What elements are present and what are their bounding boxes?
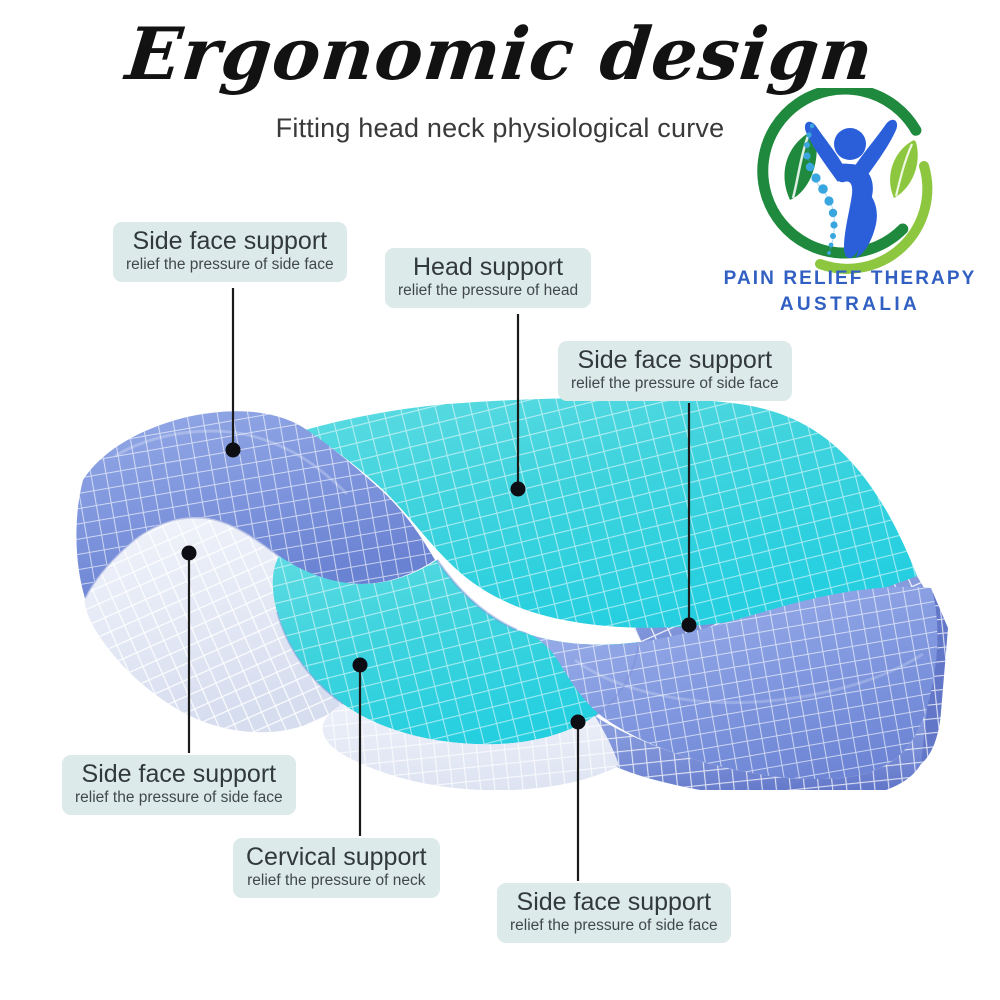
- callout-side-face-support-top-left[interactable]: Side face support relief the pressure of…: [113, 222, 347, 282]
- callout-cervical-support[interactable]: Cervical support relief the pressure of …: [233, 838, 440, 898]
- brand-logo: PAIN RELIEF THERAPY AUSTRALIA: [718, 88, 982, 328]
- callout-subtitle: relief the pressure of side face: [510, 917, 718, 936]
- callout-side-face-support-bottom-left[interactable]: Side face support relief the pressure of…: [62, 755, 296, 815]
- callout-title: Side face support: [571, 346, 779, 374]
- pillow-illustration: [55, 360, 955, 790]
- callout-title: Head support: [398, 253, 578, 281]
- callout-title: Side face support: [510, 888, 718, 916]
- callout-title: Side face support: [126, 227, 334, 255]
- logo-line-2: AUSTRALIA: [718, 292, 982, 318]
- callout-subtitle: relief the pressure of side face: [75, 789, 283, 808]
- callout-head-support[interactable]: Head support relief the pressure of head: [385, 248, 591, 308]
- callout-title: Cervical support: [246, 843, 427, 871]
- logo-mark-icon: [746, 88, 938, 278]
- callout-subtitle: relief the pressure of head: [398, 282, 578, 301]
- logo-line-1: PAIN RELIEF THERAPY: [718, 266, 982, 292]
- callout-subtitle: relief the pressure of side face: [126, 256, 334, 275]
- callout-subtitle: relief the pressure of neck: [246, 872, 427, 891]
- callout-side-face-support-top-right[interactable]: Side face support relief the pressure of…: [558, 341, 792, 401]
- logo-wordmark: PAIN RELIEF THERAPY AUSTRALIA: [718, 266, 982, 317]
- infographic-page: Ergonomic design Fitting head neck physi…: [0, 0, 1000, 1000]
- callout-subtitle: relief the pressure of side face: [571, 375, 779, 394]
- page-title: Ergonomic design: [0, 16, 1000, 92]
- callout-title: Side face support: [75, 760, 283, 788]
- callout-side-face-support-bottom-right[interactable]: Side face support relief the pressure of…: [497, 883, 731, 943]
